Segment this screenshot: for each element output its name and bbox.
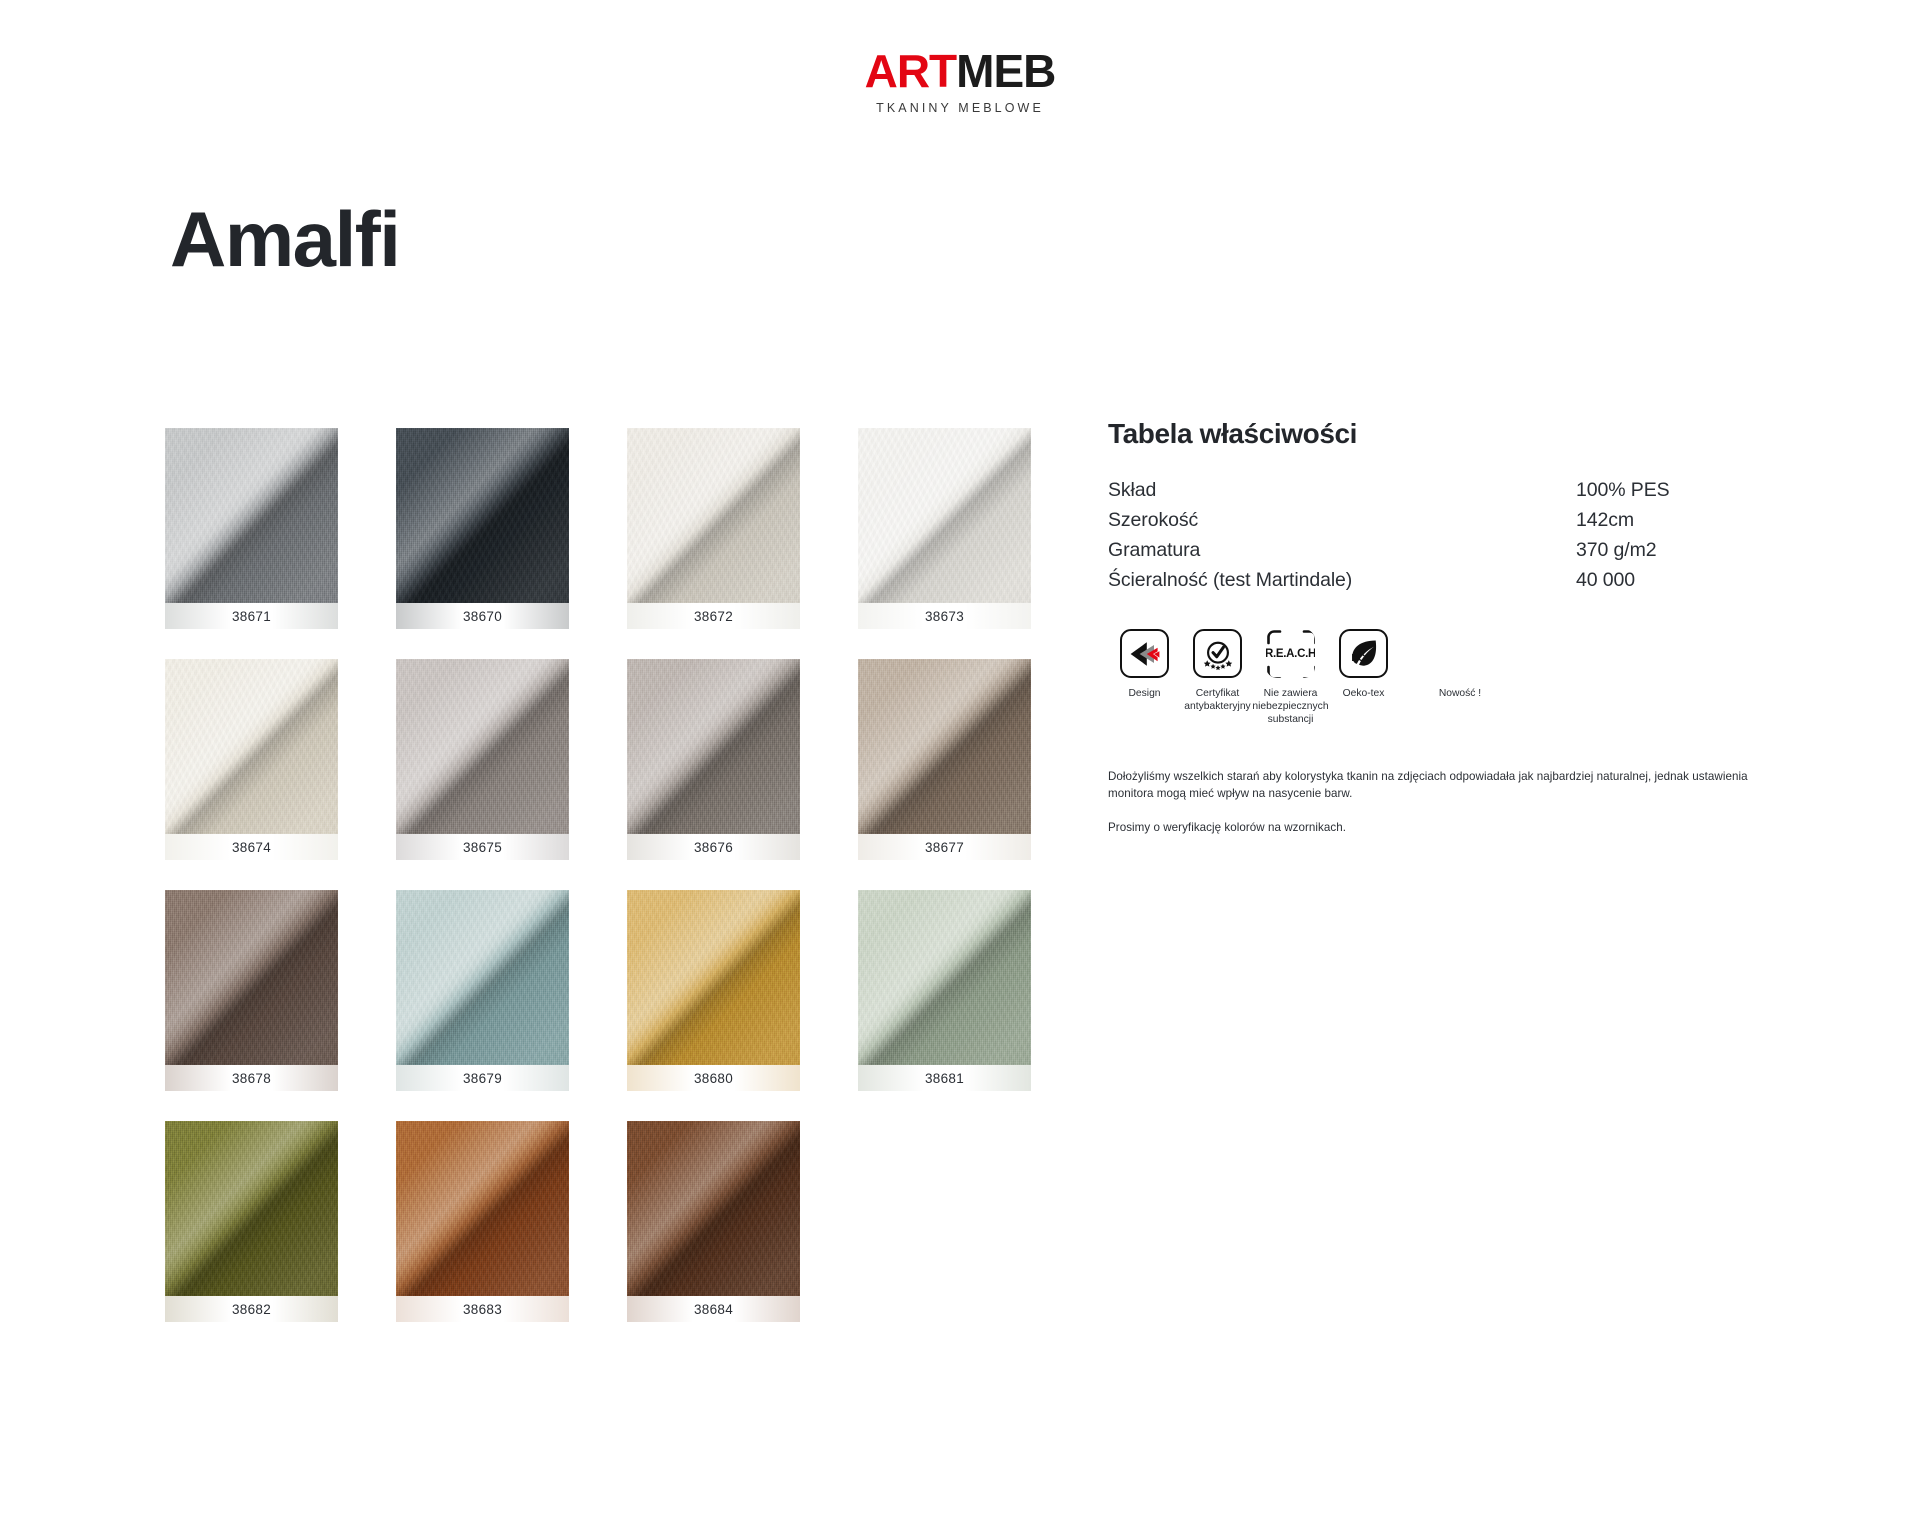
badge-design-arrows: Design [1108,629,1181,700]
fabric-image [627,1121,800,1296]
property-name: Szerokość [1108,505,1576,535]
swatch-38681[interactable]: 38681 [858,890,1031,1091]
property-value: 100% PES [1576,475,1768,505]
badge-nowosc: Nowość ! [1400,629,1520,700]
property-row: Szerokość142cm [1108,505,1768,535]
property-name: Ścieralność (test Martindale) [1108,565,1576,595]
property-name: Gramatura [1108,535,1576,565]
swatch-code-label: 38684 [627,1296,800,1322]
fabric-grain [858,428,1031,603]
swatch-38676[interactable]: 38676 [627,659,800,860]
swatch-code-label: 38671 [165,603,338,629]
properties-panel: Tabela właściwości Skład100% PESSzerokoś… [1108,418,1768,836]
swatch-38670[interactable]: 38670 [396,428,569,629]
fabric-image [165,428,338,603]
properties-heading: Tabela właściwości [1108,418,1768,450]
disclaimer-text: Dołożyliśmy wszelkich starań aby kolorys… [1108,768,1748,836]
swatch-code-label: 38679 [396,1065,569,1091]
swatch-38677[interactable]: 38677 [858,659,1031,860]
swatch-code-label: 38681 [858,1065,1031,1091]
fabric-grain [396,890,569,1065]
property-row: Gramatura370 g/m2 [1108,535,1768,565]
svg-text:ECO: ECO [1351,653,1373,664]
swatch-code-label: 38683 [396,1296,569,1322]
property-name: Skład [1108,475,1576,505]
disclaimer-line-1: Dołożyliśmy wszelkich starań aby kolorys… [1108,768,1748,802]
swatch-code-label: 38672 [627,603,800,629]
swatch-38679[interactable]: 38679 [396,890,569,1091]
property-row: Ścieralność (test Martindale)40 000 [1108,565,1768,595]
design-arrows-icon [1127,636,1163,672]
fabric-image [396,659,569,834]
reach-label: R.E.A.C.H [1266,648,1315,660]
page-title: Amalfi [170,200,399,278]
swatch-38673[interactable]: 38673 [858,428,1031,629]
disclaimer-line-2: Prosimy o weryfikację kolorów na wzornik… [1108,819,1748,836]
swatch-code-label: 38677 [858,834,1031,860]
swatch-38672[interactable]: 38672 [627,428,800,629]
swatch-code-label: 38676 [627,834,800,860]
logo-tagline: TKANINY MEBLOWE [876,101,1044,115]
fabric-image [858,890,1031,1065]
fabric-grain [165,1121,338,1296]
fabric-image [396,1121,569,1296]
badge-reach: R.E.A.C.HNie zawiera niebezpiecznych sub… [1254,629,1327,726]
swatch-38675[interactable]: 38675 [396,659,569,860]
swatch-38674[interactable]: 38674 [165,659,338,860]
logo-meb-text: MEB [956,48,1055,94]
swatch-code-label: 38673 [858,603,1031,629]
fabric-grain [627,659,800,834]
badge-antibacterial-check: Certyfikat antybakteryjny [1181,629,1254,713]
badge-icon-box [1193,629,1242,678]
fabric-image [627,659,800,834]
logo-art-text: ART [865,48,957,94]
fabric-image [165,890,338,1065]
swatch-code-label: 38674 [165,834,338,860]
fabric-image [858,428,1031,603]
swatch-38682[interactable]: 38682 [165,1121,338,1322]
brand-logo: ARTMEB TKANINY MEBLOWE [0,48,1920,115]
certification-badges: DesignCertyfikat antybakteryjnyR.E.A.C.H… [1108,629,1768,726]
fabric-image [396,428,569,603]
swatch-38680[interactable]: 38680 [627,890,800,1091]
swatch-38671[interactable]: 38671 [165,428,338,629]
swatch-code-label: 38682 [165,1296,338,1322]
fabric-grain [396,428,569,603]
badge-caption: Oeko-tex [1321,687,1406,700]
fabric-image [627,428,800,603]
properties-table: Skład100% PESSzerokość142cmGramatura370 … [1108,475,1768,595]
fabric-grain [627,1121,800,1296]
swatch-code-label: 38678 [165,1065,338,1091]
logo-wordmark: ARTMEB [865,48,1056,94]
fabric-grain [396,1121,569,1296]
fabric-image [858,659,1031,834]
fabric-grain [627,890,800,1065]
swatch-code-label: 38675 [396,834,569,860]
fabric-grain [858,890,1031,1065]
swatch-38683[interactable]: 38683 [396,1121,569,1322]
badge-icon-box [1120,629,1169,678]
swatch-38678[interactable]: 38678 [165,890,338,1091]
fabric-collection-page: ARTMEB TKANINY MEBLOWE Amalfi 3867138670… [0,0,1920,1538]
fabric-image [165,1121,338,1296]
badge-eco-leaf: ECOOeko-tex [1327,629,1400,700]
swatch-code-label: 38680 [627,1065,800,1091]
eco-leaf-icon: ECO [1346,636,1382,672]
fabric-image [165,659,338,834]
property-value: 370 g/m2 [1576,535,1768,565]
fabric-grain [165,890,338,1065]
fabric-grain [858,659,1031,834]
fabric-grain [165,428,338,603]
swatch-38684[interactable]: 38684 [627,1121,800,1322]
fabric-grain [627,428,800,603]
fabric-grain [396,659,569,834]
badge-icon-box: R.E.A.C.H [1266,629,1315,678]
antibacterial-check-icon [1200,636,1236,672]
property-value: 142cm [1576,505,1768,535]
badge-icon-box: ECO [1339,629,1388,678]
property-row: Skład100% PES [1108,475,1768,505]
swatch-code-label: 38670 [396,603,569,629]
fabric-image [627,890,800,1065]
fabric-grain [165,659,338,834]
swatch-grid: 3867138670386723867338674386753867638677… [165,428,1031,1322]
badge-caption: Nowość ! [1400,687,1520,700]
property-value: 40 000 [1576,565,1768,595]
fabric-image [396,890,569,1065]
